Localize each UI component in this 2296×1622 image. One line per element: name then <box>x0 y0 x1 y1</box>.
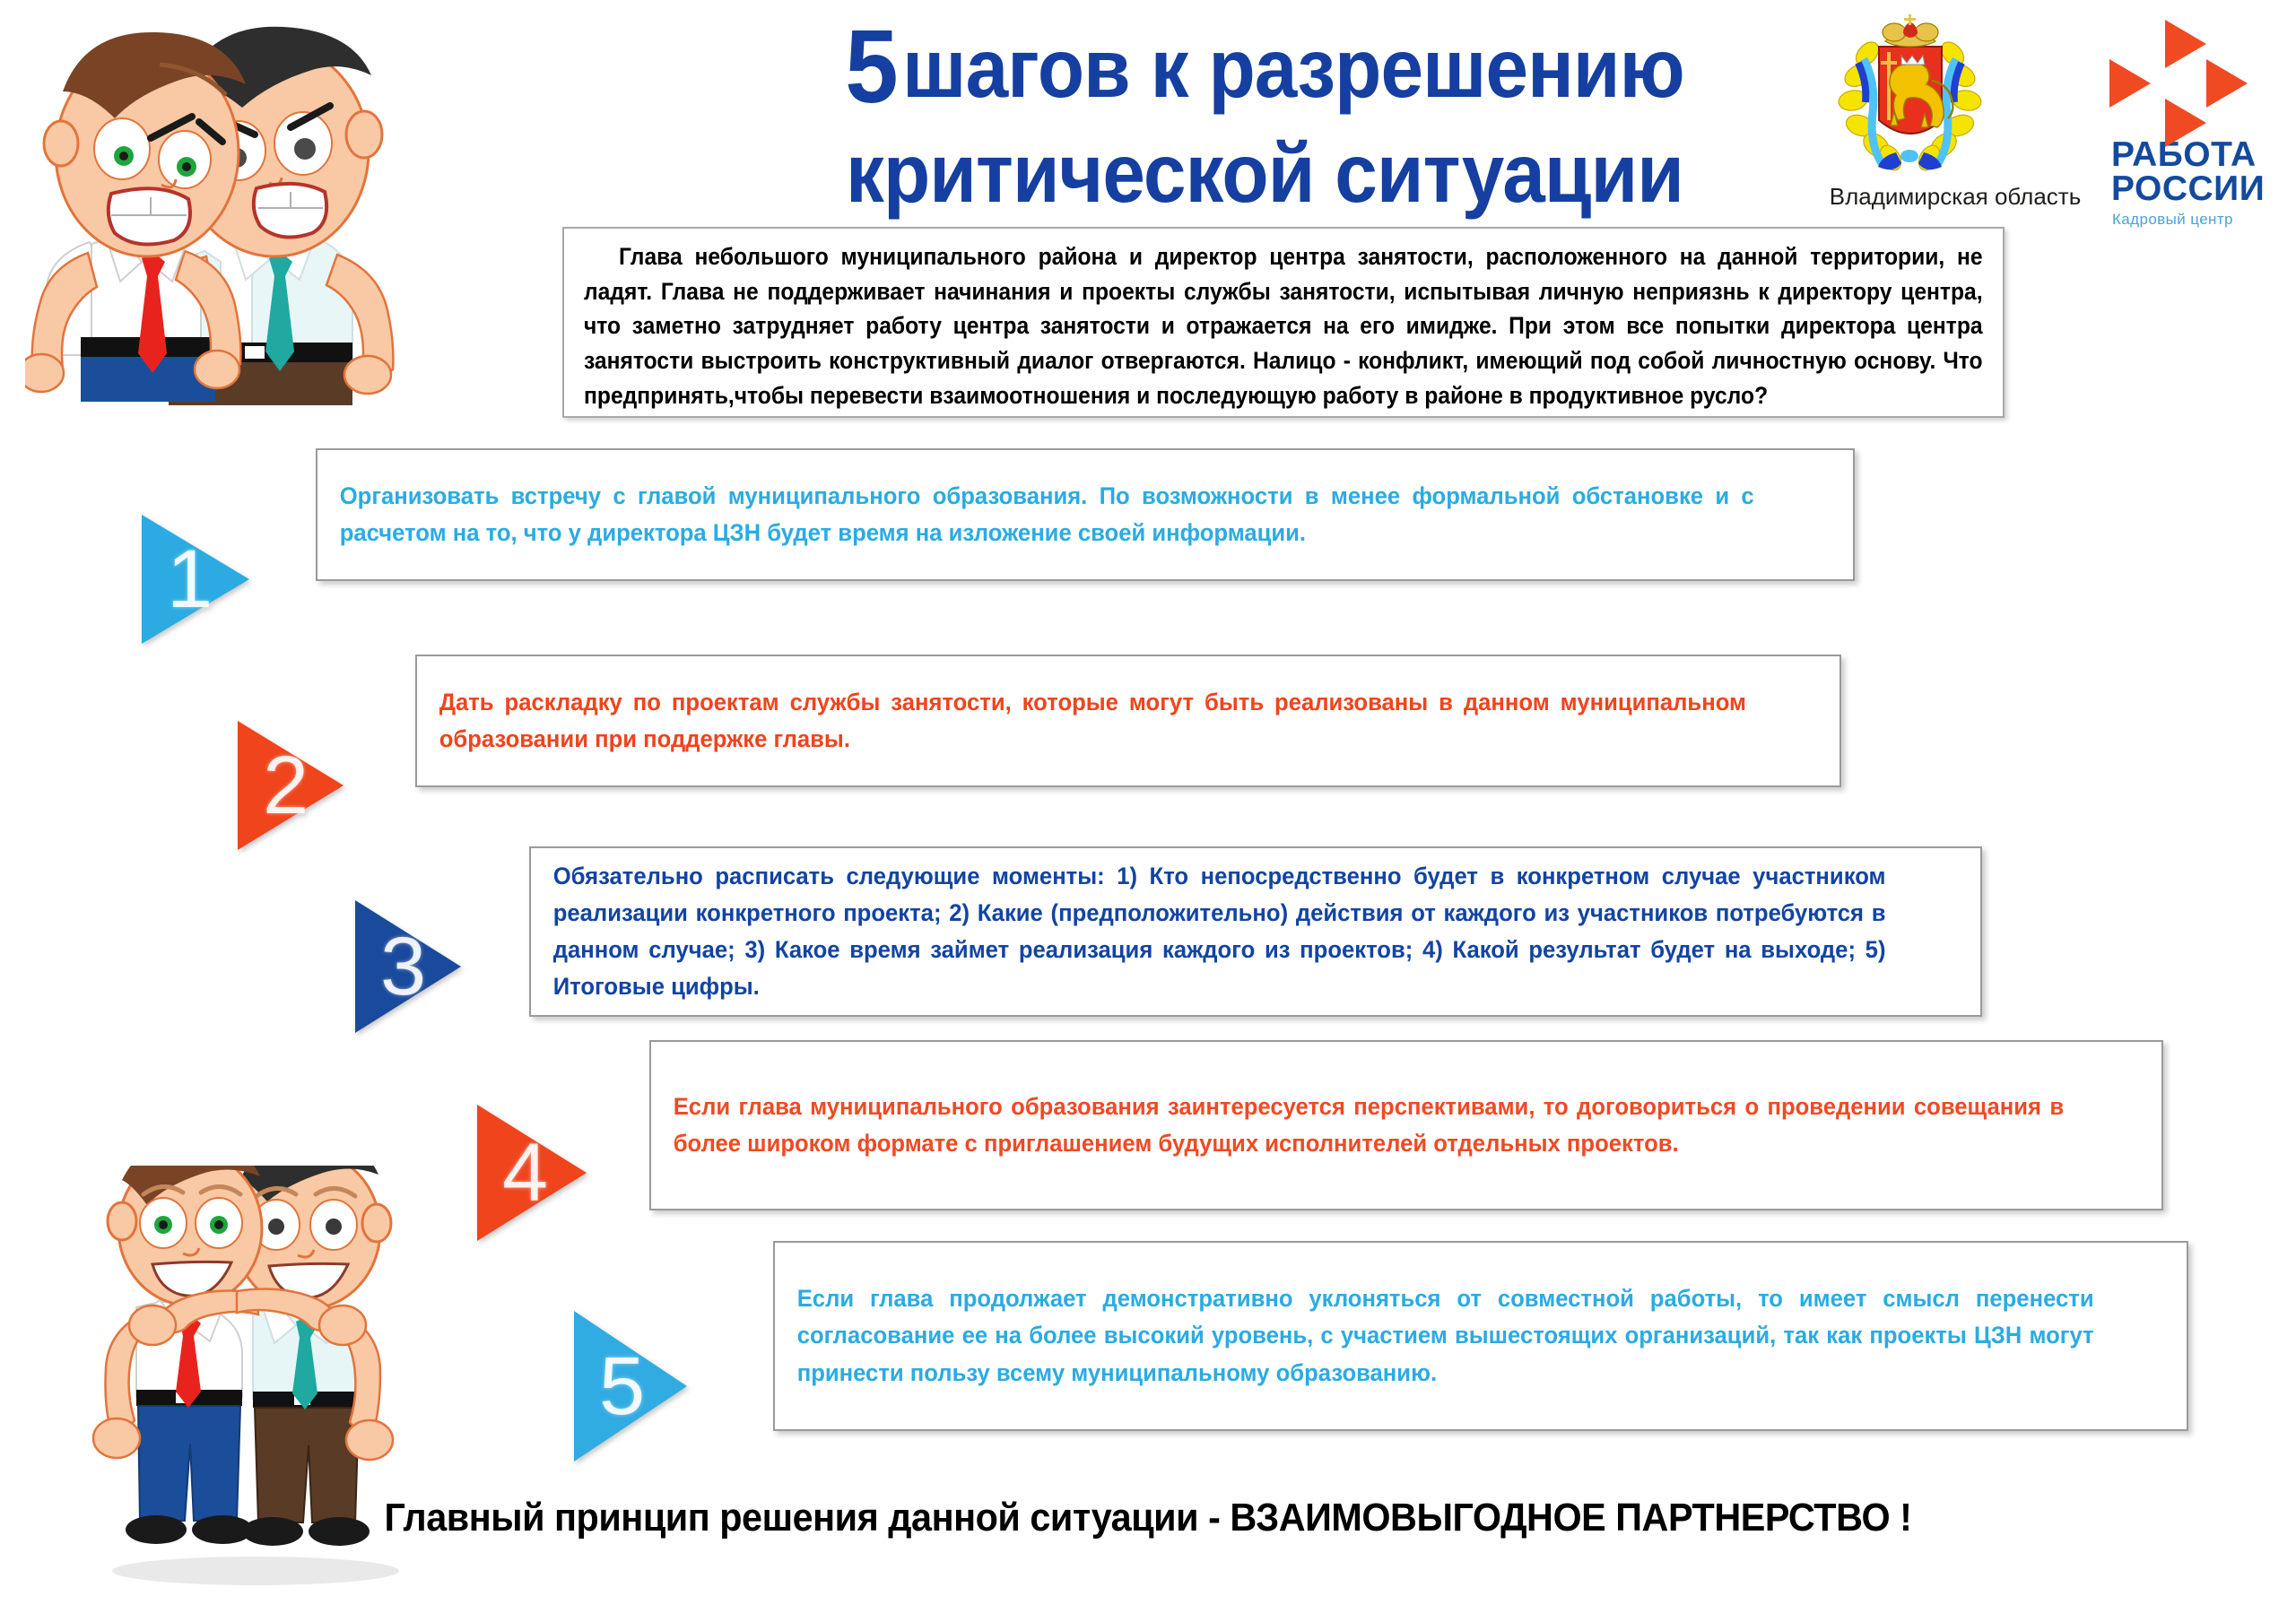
coat-of-arms-icon <box>1831 13 1988 178</box>
step-number-5: 5 <box>590 1323 676 1449</box>
step-arrow-2: 2 <box>238 721 344 850</box>
step-text-5: Если глава продолжает демонстративно укл… <box>775 1280 2116 1391</box>
rabota-rossii-logo: РАБОТА РОССИИ Кадровый центр <box>2100 18 2280 217</box>
step-text-4: Если глава муниципального образования за… <box>651 1089 2086 1162</box>
brand-subtitle: Кадровый центр <box>2112 211 2280 229</box>
step-arrow-5: 5 <box>574 1311 687 1462</box>
triangle-icon-2 <box>2109 59 2151 108</box>
step-box-4: Если глава муниципального образования за… <box>649 1040 2163 1210</box>
step-number-1: 1 <box>158 527 239 631</box>
step-box-5: Если глава продолжает демонстративно укл… <box>773 1241 2188 1431</box>
brand-name: РАБОТА РОССИИ <box>2111 138 2280 206</box>
triangle-icon-1 <box>2165 20 2206 68</box>
region-label: Владимирская область <box>1812 183 2099 211</box>
title-number: 5 <box>845 8 897 125</box>
step-arrow-3: 3 <box>355 900 461 1033</box>
step-number-4: 4 <box>493 1117 576 1228</box>
step-number-2: 2 <box>254 733 333 837</box>
title-line-1: шагов к разрешению <box>902 22 1684 115</box>
intro-case-box: Глава небольшого муниципального района и… <box>562 227 2005 418</box>
step-arrow-4: 4 <box>477 1105 587 1241</box>
logo-block: Владимирская область РАБОТА РОССИИ Кадро… <box>1831 13 2280 219</box>
title-line-2: критической ситуации <box>846 126 1683 220</box>
intro-case-text: Глава небольшого муниципального района и… <box>584 239 1983 412</box>
step-box-2: Дать раскладку по проектам службы занято… <box>415 655 1841 787</box>
rabota-rossii-mark-icon <box>2109 18 2267 133</box>
triangle-icon-4 <box>2165 99 2206 147</box>
step-box-3: Обязательно расписать следующие моменты:… <box>529 846 1982 1017</box>
page-title: 5шагов к разрешению критической ситуации <box>679 7 1850 221</box>
footer-principle-text: Главный принцип решения данной ситуации … <box>69 1496 2227 1540</box>
triangle-icon-3 <box>2206 59 2248 108</box>
step-text-2: Дать раскладку по проектам службы занято… <box>417 684 1769 758</box>
angry-man-left <box>25 32 246 402</box>
two-angry-businessmen-illustration <box>25 16 447 438</box>
step-arrow-1: 1 <box>142 515 249 644</box>
step-number-3: 3 <box>371 913 450 1020</box>
brand-name-line-2: РОССИИ <box>2111 172 2280 206</box>
friendly-man-left <box>93 1166 262 1544</box>
step-text-3: Обязательно расписать следующие моменты:… <box>531 858 1908 1005</box>
step-box-1: Организовать встречу с главой муниципаль… <box>316 448 1855 581</box>
step-text-1: Организовать встречу с главой муниципаль… <box>317 478 1776 551</box>
